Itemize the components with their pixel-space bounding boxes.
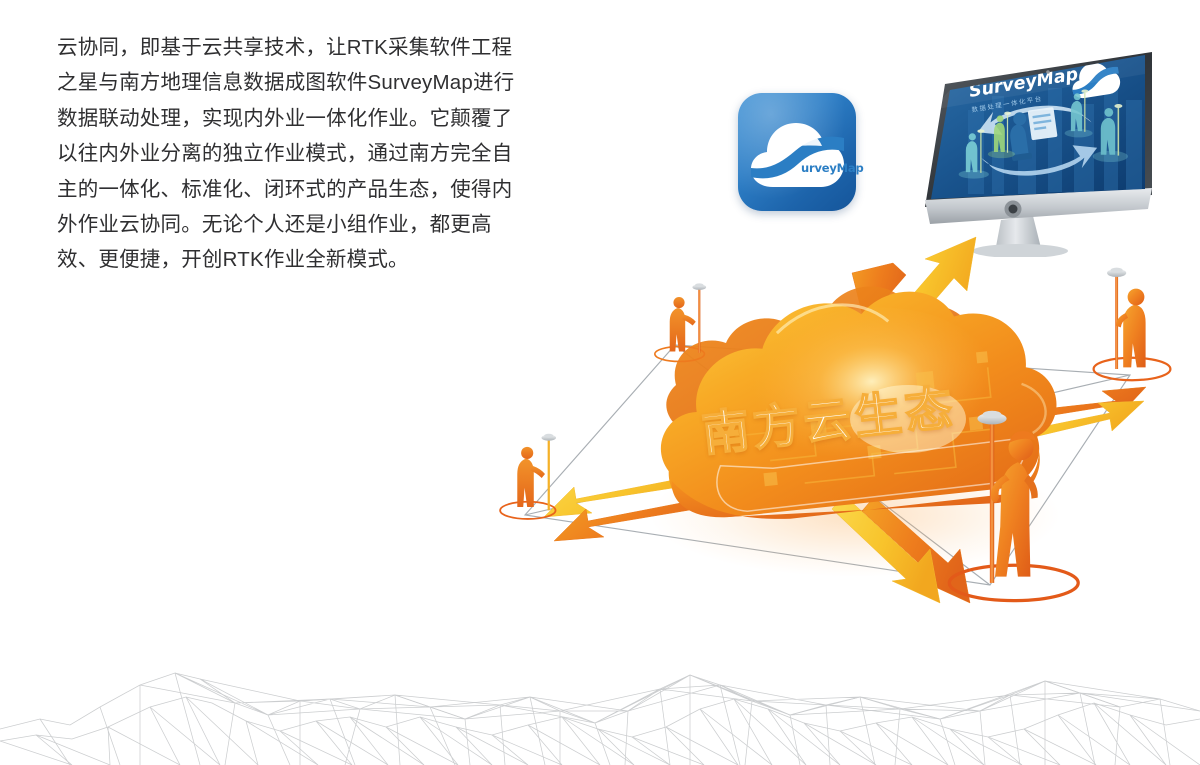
surveyor-front	[949, 411, 1078, 601]
cloud-icon	[747, 113, 847, 193]
surveyor-right	[1094, 268, 1171, 381]
body-copy: 云协同，即基于云共享技术，让RTK采集软件工程 之星与南方地理信息数据成图软件S…	[57, 30, 527, 278]
app-icon-wordmark: urveyMap	[801, 161, 864, 175]
surveyor-top-left	[655, 283, 706, 361]
surveymap-app-icon[interactable]: urveyMap	[738, 93, 856, 211]
poster-canvas: 云协同，即基于云共享技术，让RTK采集软件工程 之星与南方地理信息数据成图软件S…	[0, 0, 1200, 765]
power-button-inner	[1009, 205, 1018, 214]
wireframe-mountain-decoration	[0, 645, 1200, 765]
surveyor-figures-layer	[470, 215, 1200, 640]
surveyor-left	[500, 434, 556, 519]
